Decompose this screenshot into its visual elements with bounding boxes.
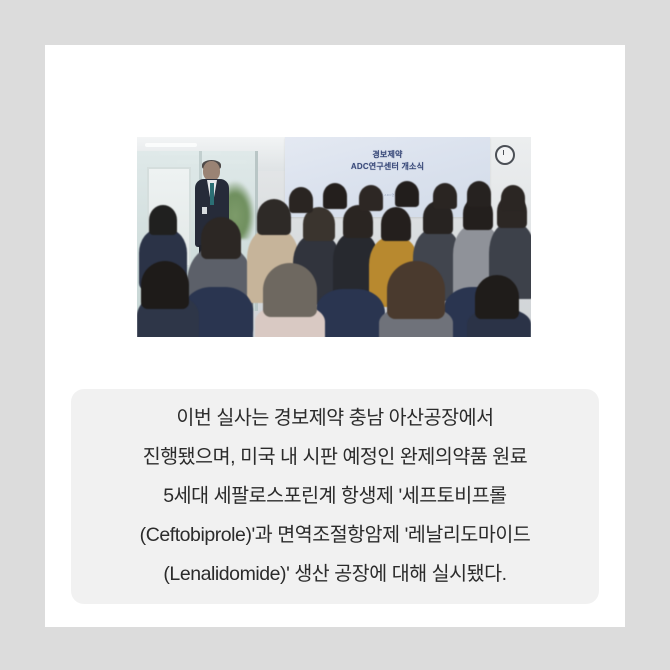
chair [315,289,385,337]
attendee-head [433,183,457,209]
attendee-head [289,187,313,213]
attendee-head [381,207,411,241]
attendee-head [395,181,419,207]
content-card: 경보제약ADC연구센터 개소식 경보제약 ADC연구센터 [45,45,625,627]
screen-title-line1: 경보제약 [372,150,402,159]
presenter-badge [202,207,207,214]
attendee-head [359,185,383,211]
attendee-head [201,217,241,259]
caption-box: 이번 실사는 경보제약 충남 아산공장에서 진행됐으며, 미국 내 시판 예정인… [71,389,599,604]
page-root: 경보제약ADC연구센터 개소식 경보제약 ADC연구센터 [0,0,670,670]
presenter-tie [210,183,214,205]
attendee-head [467,181,491,207]
screen-title-line2: ADC연구센터 개소식 [351,162,424,171]
attendee-head [257,199,291,235]
projection-screen: 경보제약ADC연구센터 개소식 경보제약 ADC연구센터 [285,137,490,217]
event-photo: 경보제약ADC연구센터 개소식 경보제약 ADC연구센터 [137,137,531,337]
caption-text: 이번 실사는 경보제약 충남 아산공장에서 진행됐으며, 미국 내 시판 예정인… [134,399,537,594]
wall-clock-icon [495,145,515,165]
attendee-head [323,183,347,209]
attendee-head [263,263,317,317]
attendee-head [501,185,525,211]
photo-scene: 경보제약ADC연구센터 개소식 경보제약 ADC연구센터 [137,137,531,337]
screen-title: 경보제약ADC연구센터 개소식 [285,149,490,172]
attendee-head [149,205,177,235]
attendee-head [387,261,445,319]
attendee-head [141,261,189,309]
ceiling-light [145,143,197,147]
screen-footnote: 경보제약 ADC연구센터 [285,193,490,197]
presenter-head [203,161,220,181]
attendee-head [475,275,519,319]
